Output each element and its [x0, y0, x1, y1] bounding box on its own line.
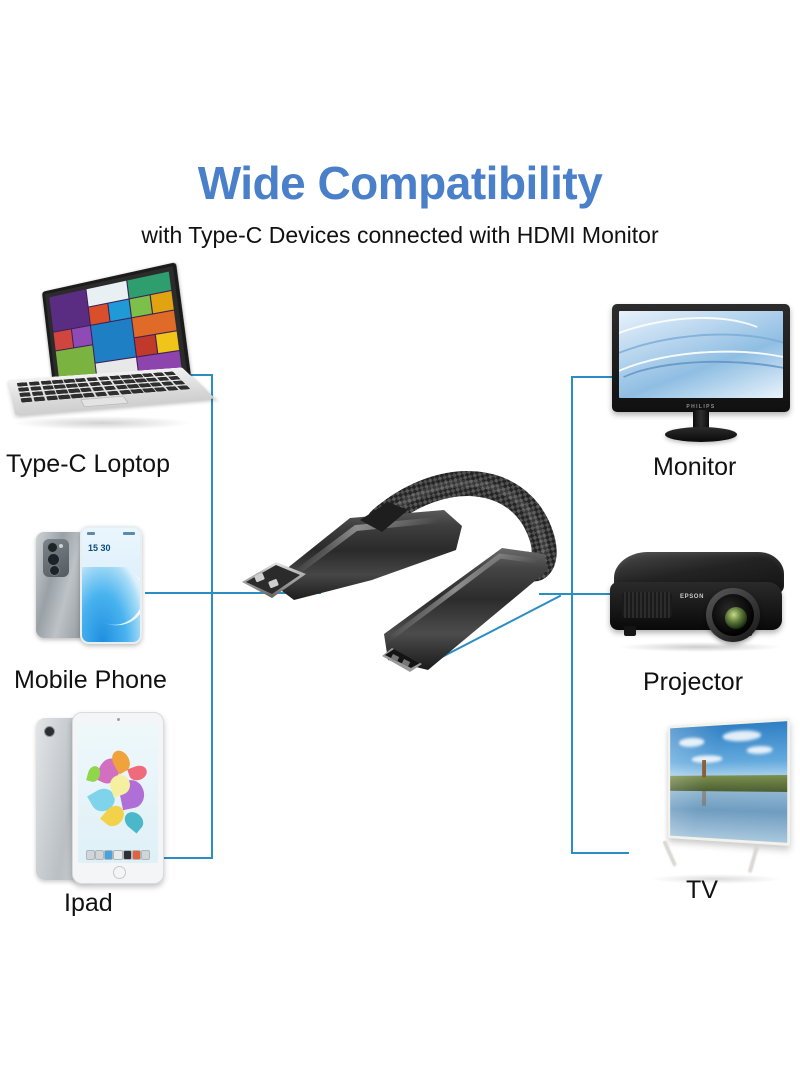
- smartphone-icon: 15 30: [28, 524, 158, 646]
- infographic-canvas: Wide Compatibility with Type-C Devices c…: [0, 0, 800, 1090]
- monitor-screen: [619, 311, 783, 398]
- label-ipad: Ipad: [64, 891, 113, 916]
- projector-body: EPSON: [610, 582, 782, 630]
- ipad-dock: [86, 849, 150, 860]
- label-monitor: Monitor: [653, 455, 736, 480]
- ipad-home-button: [113, 866, 126, 879]
- laptop-keyboard-base: [8, 367, 215, 415]
- tv-leg-left: [663, 841, 676, 866]
- tv-panel: [668, 718, 790, 846]
- label-mobile-phone: Mobile Phone: [14, 668, 167, 693]
- laptop-trackpad: [80, 396, 129, 407]
- tv-icon: [634, 714, 800, 890]
- page-title: Wide Compatibility: [0, 160, 800, 206]
- projector-lens-inner: [712, 594, 754, 636]
- projector-shadow: [618, 642, 782, 652]
- ipad-front-camera: [117, 718, 120, 721]
- tablet-icon: [32, 712, 172, 890]
- ipad-front: [72, 712, 164, 884]
- monitor-stand-base: [665, 427, 737, 442]
- ipad-screen: [78, 725, 158, 863]
- projector-foot-left: [624, 626, 636, 636]
- label-tv: TV: [686, 878, 718, 903]
- ipad-rear-camera: [44, 726, 55, 737]
- usb-c-to-hdmi-adapter: [232, 458, 578, 690]
- tv-leg-right: [748, 846, 758, 872]
- projector-lens-glass: [725, 607, 747, 629]
- phone-front-display: 15 30: [80, 526, 142, 644]
- monitor-icon: PHILIPS: [608, 304, 794, 444]
- phone-clock: 15 30: [88, 544, 111, 553]
- tv-screen: [670, 721, 787, 843]
- projector-lens: [706, 588, 760, 642]
- label-projector: Projector: [643, 670, 743, 695]
- usb-c-connector: [242, 502, 462, 600]
- projector-brand-label: EPSON: [680, 594, 704, 600]
- laptop-icon: [8, 288, 208, 443]
- projector-vent-grille: [622, 592, 672, 618]
- projector-icon: EPSON: [604, 546, 796, 652]
- phone-status-bar: [87, 532, 135, 536]
- laptop-shadow: [12, 416, 192, 430]
- phone-rear-shell: [36, 532, 86, 638]
- page-subtitle: with Type-C Devices connected with HDMI …: [0, 224, 800, 247]
- phone-camera-module: [43, 539, 69, 577]
- label-laptop: Type-C Loptop: [6, 452, 170, 477]
- monitor-bezel: PHILIPS: [612, 304, 790, 412]
